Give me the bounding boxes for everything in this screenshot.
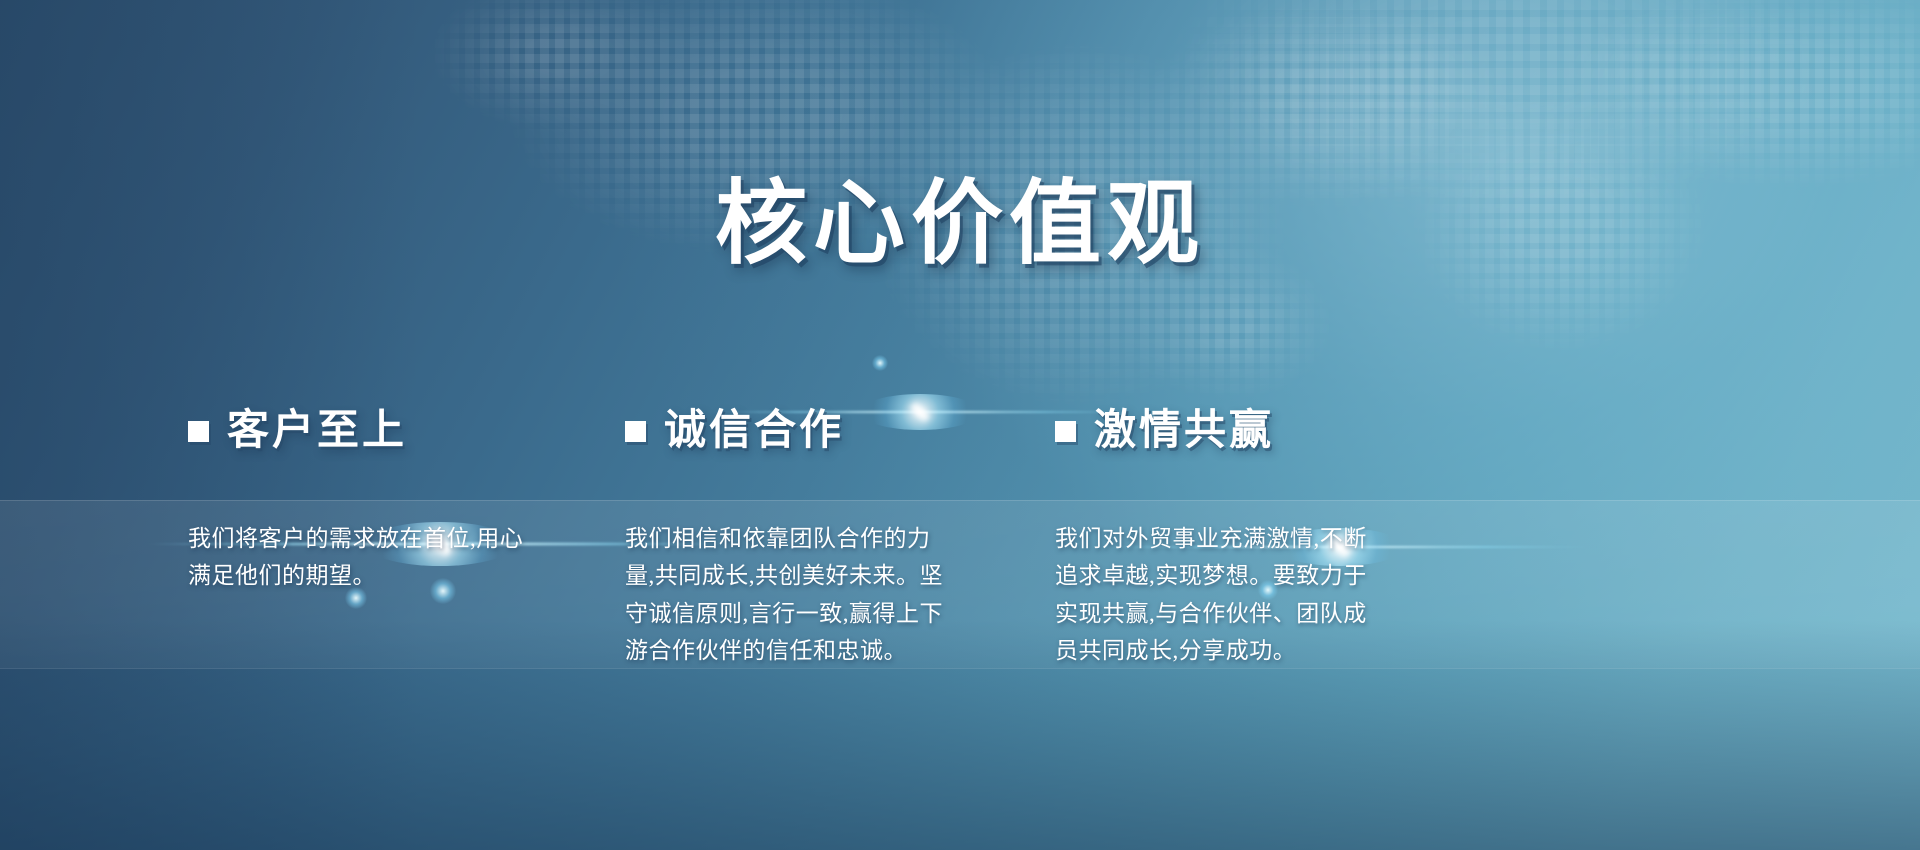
value-heading-passion-winwin: 激情共赢: [1055, 410, 1395, 452]
value-column-passion-winwin: 激情共赢 我们对外贸事业充满激情,不断追求卓越,实现梦想。要致力于实现共赢,与合…: [1055, 410, 1395, 669]
square-bullet-icon: [1055, 421, 1076, 442]
value-heading-customer-first: 客户至上: [188, 410, 548, 452]
value-heading-label: 激情共赢: [1094, 410, 1274, 452]
banner-canvas: 核心价值观 客户至上 我们将客户的需求放在首位,用心满足他们的期望。 诚信合作 …: [0, 0, 1920, 850]
banner-content: 核心价值观 客户至上 我们将客户的需求放在首位,用心满足他们的期望。 诚信合作 …: [0, 0, 1920, 850]
square-bullet-icon: [188, 421, 209, 442]
value-heading-integrity-cooperation: 诚信合作: [625, 410, 965, 452]
value-column-customer-first: 客户至上 我们将客户的需求放在首位,用心满足他们的期望。: [188, 410, 548, 595]
value-body-integrity-cooperation: 我们相信和依靠团队合作的力量,共同成长,共创美好未来。坚守诚信原则,言行一致,赢…: [625, 520, 947, 669]
value-body-customer-first: 我们将客户的需求放在首位,用心满足他们的期望。: [188, 520, 528, 595]
square-bullet-icon: [625, 421, 646, 442]
value-column-integrity-cooperation: 诚信合作 我们相信和依靠团队合作的力量,共同成长,共创美好未来。坚守诚信原则,言…: [625, 410, 965, 669]
value-heading-label: 诚信合作: [664, 410, 844, 452]
value-body-passion-winwin: 我们对外贸事业充满激情,不断追求卓越,实现梦想。要致力于实现共赢,与合作伙伴、团…: [1055, 520, 1380, 669]
value-columns: 客户至上 我们将客户的需求放在首位,用心满足他们的期望。 诚信合作 我们相信和依…: [0, 0, 1920, 850]
value-heading-label: 客户至上: [227, 410, 407, 452]
